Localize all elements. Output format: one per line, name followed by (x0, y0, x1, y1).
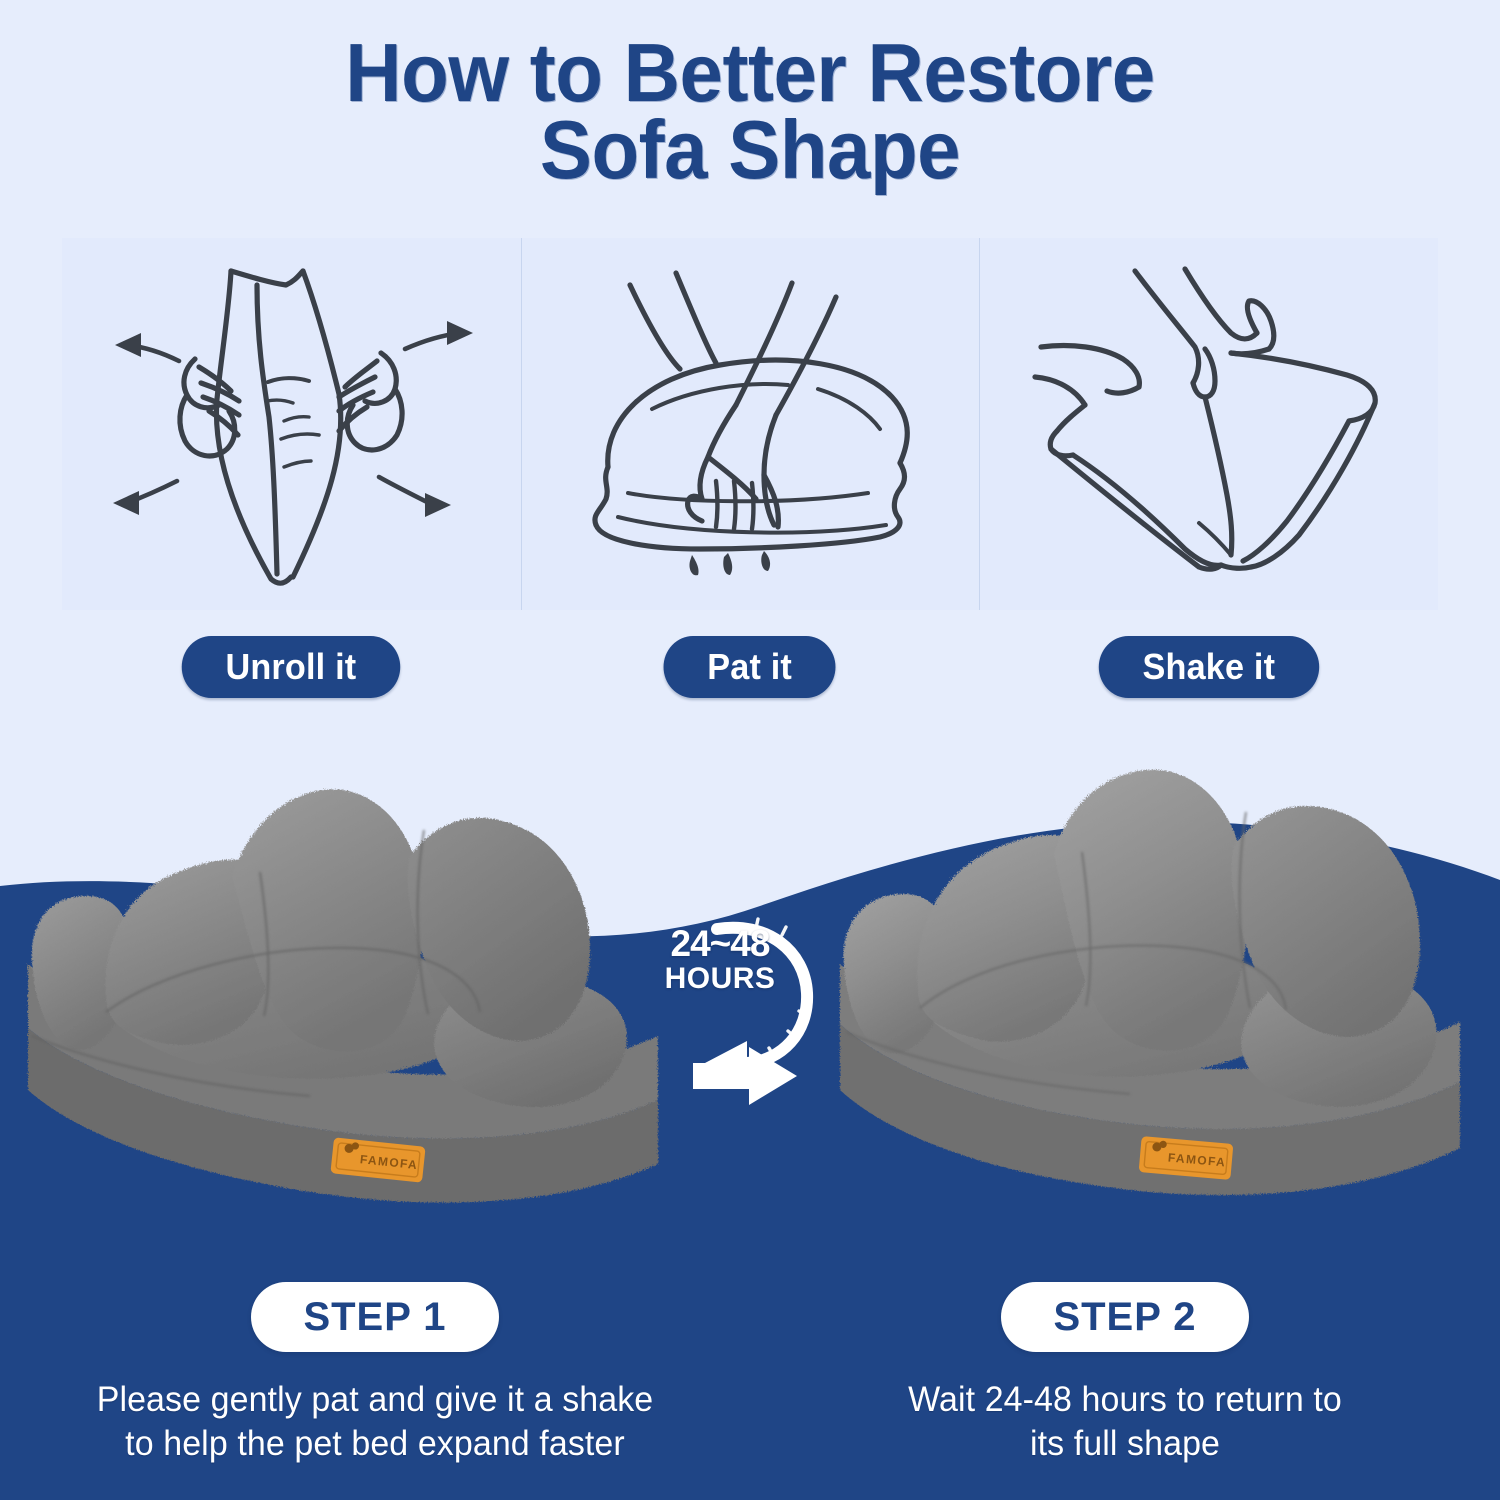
step-1-caption-line-1: Please gently pat and give it a shake (11, 1378, 739, 1422)
step-2-block: STEP 2 Wait 24-48 hours to return to its… (750, 1282, 1500, 1466)
step-1-caption: Please gently pat and give it a shake to… (11, 1378, 739, 1466)
product-image-step-2: FAMOFA (810, 760, 1490, 1250)
illustration-panel-unroll (62, 238, 521, 610)
illustration-panel-pat (521, 238, 980, 610)
navy-section-background (0, 0, 1500, 1500)
label-pat-it[interactable]: Pat it (664, 636, 836, 698)
transition-indicator: 24~48 HOURS (655, 915, 845, 1120)
page-title: How to Better Restore Sofa Shape (0, 34, 1500, 188)
pill-cell-unroll: Unroll it (62, 636, 521, 698)
top-step-labels: Unroll it Pat it Shake it (62, 636, 1438, 698)
step-1-block: STEP 1 Please gently pat and give it a s… (0, 1282, 750, 1466)
pill-cell-pat: Pat it (521, 636, 980, 698)
pill-cell-shake: Shake it (979, 636, 1438, 698)
step-2-caption: Wait 24-48 hours to return to its full s… (761, 1378, 1489, 1466)
unroll-hands-icon (81, 249, 501, 599)
illustration-panel-row (62, 238, 1438, 610)
illustration-panel-shake (979, 238, 1438, 610)
step-2-badge[interactable]: STEP 2 (1001, 1282, 1248, 1352)
step-2-caption-line-1: Wait 24-48 hours to return to (761, 1378, 1489, 1422)
duration-value: 24~48 (655, 925, 785, 962)
pat-hands-icon (540, 249, 960, 599)
step-2-caption-line-2: its full shape (761, 1422, 1489, 1466)
shake-hands-icon (999, 249, 1419, 599)
step-1-badge[interactable]: STEP 1 (251, 1282, 498, 1352)
product-image-step-1: FAMOFA (10, 760, 700, 1260)
step-1-caption-line-2: to help the pet bed expand faster (11, 1422, 739, 1466)
label-shake-it[interactable]: Shake it (1099, 636, 1319, 698)
label-unroll-it[interactable]: Unroll it (182, 636, 400, 698)
page-title-line-1: How to Better Restore (45, 34, 1455, 111)
page-title-line-2: Sofa Shape (45, 111, 1455, 188)
duration-unit: HOURS (655, 962, 785, 997)
right-arrow-icon (691, 1045, 801, 1107)
duration-text: 24~48 HOURS (655, 925, 785, 997)
infographic-page: How to Better Restore Sofa Shape (0, 0, 1500, 1500)
